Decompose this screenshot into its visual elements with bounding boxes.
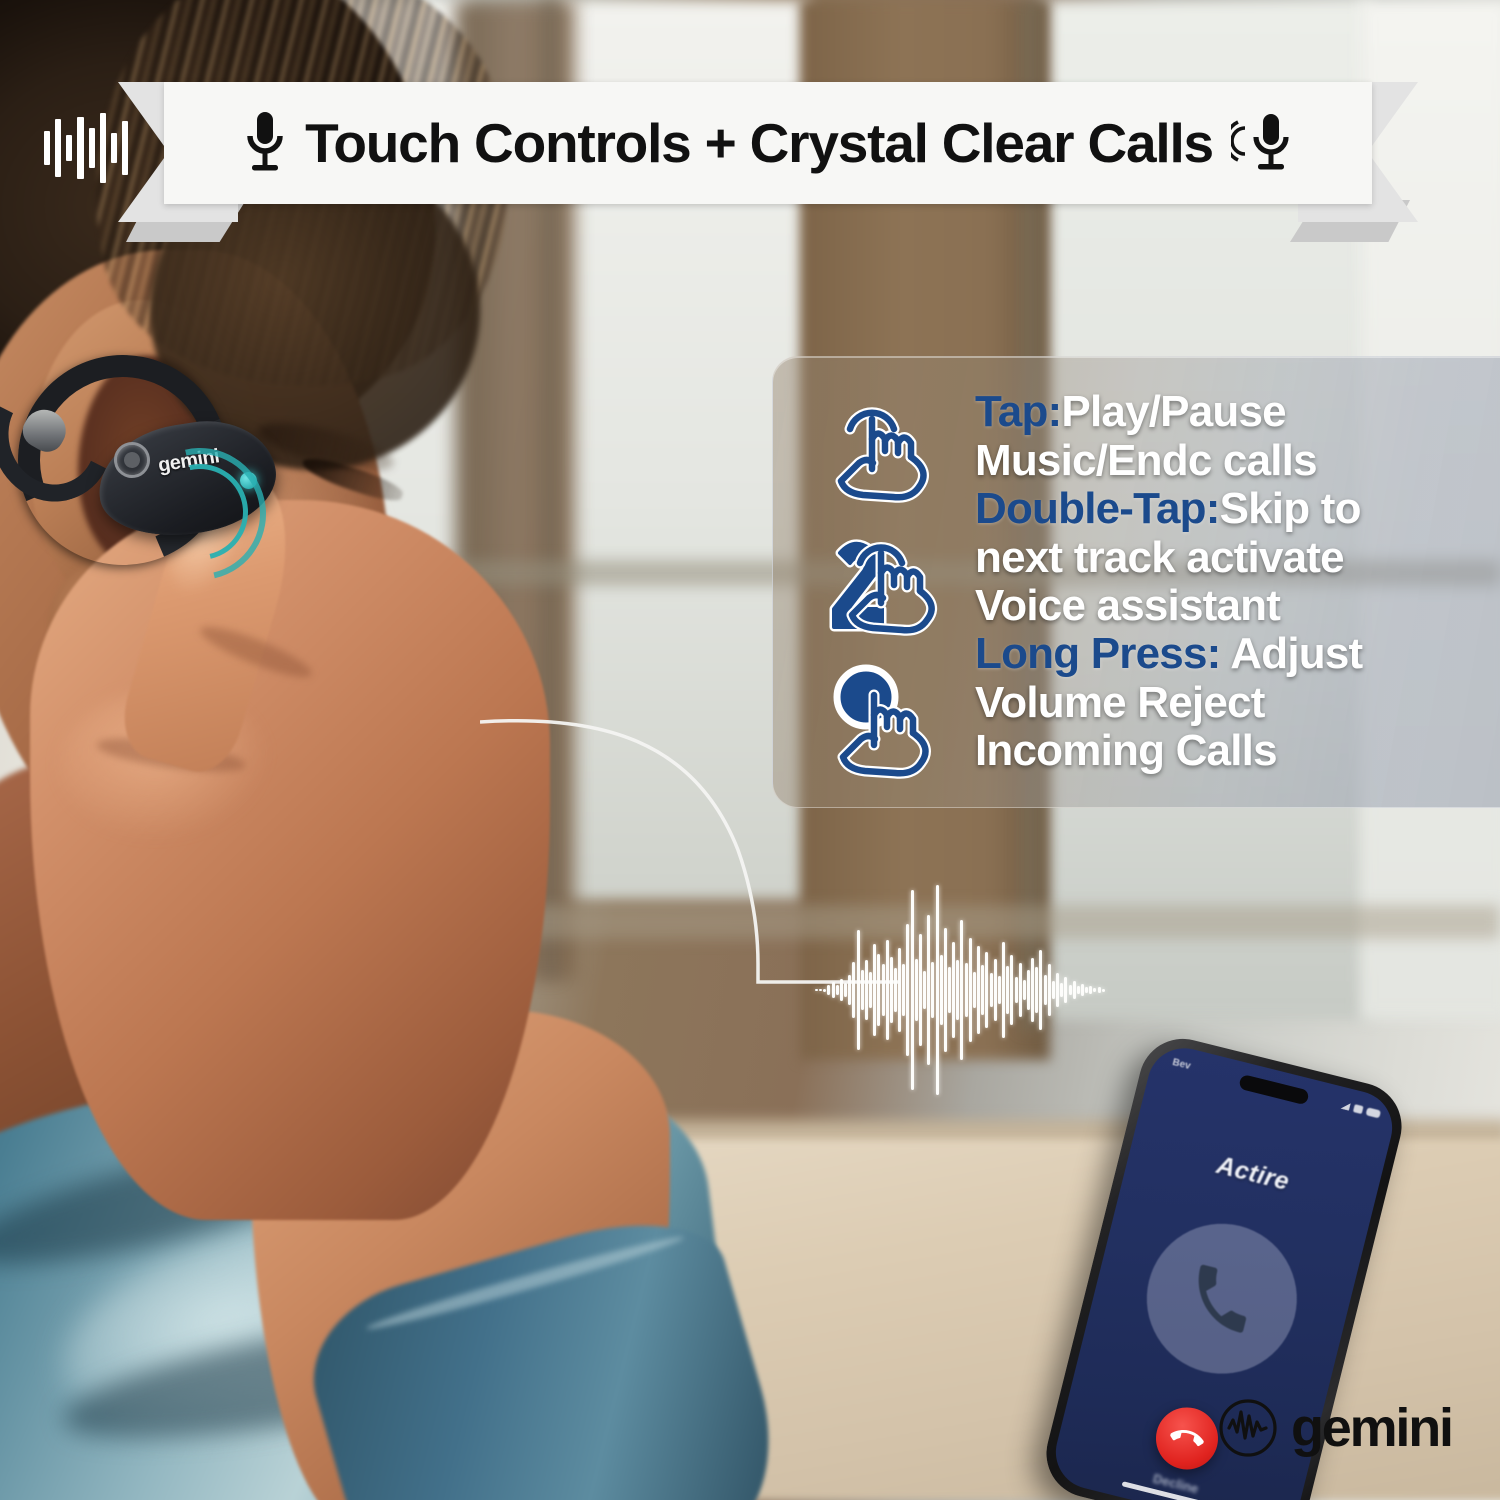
waveform-bar (1006, 966, 1009, 1014)
gesture-icon-column (807, 375, 967, 789)
waveform-bar (832, 982, 835, 998)
equalizer-bar (66, 135, 72, 161)
gesture-description: Incoming Calls (975, 726, 1277, 775)
waveform-bar (890, 957, 893, 1023)
waveform-bar (977, 946, 980, 1034)
waveform-bar (869, 972, 872, 1008)
waveform-bar (923, 971, 926, 1009)
ribbon-banner: Touch Controls + Crystal Clear Calls (164, 82, 1372, 204)
waveform-bar (973, 972, 976, 1008)
equalizer-bar (55, 119, 61, 177)
waveform-bar (1010, 955, 1013, 1025)
page-title: Touch Controls + Crystal Clear Calls (305, 111, 1213, 175)
waveform-bar (956, 960, 959, 1020)
gesture-description: Volume Reject (975, 678, 1265, 727)
waveform-bar (981, 965, 984, 1015)
waveform-bar (1064, 977, 1067, 1003)
waveform-bar (1044, 975, 1047, 1005)
waveform-bar (902, 964, 905, 1016)
waveform-bar (915, 959, 918, 1021)
waveform-bar (898, 948, 901, 1032)
waveform-bar (1102, 989, 1105, 992)
waveform-bar (848, 975, 851, 1005)
waveform-bar (1048, 964, 1051, 1016)
waveform-bar (873, 944, 876, 1036)
battery-icon (1366, 1107, 1382, 1118)
waveform-bar (836, 985, 839, 995)
waveform-bar (940, 955, 943, 1025)
waveform-bar (840, 979, 843, 1001)
waveform-bar (906, 924, 909, 1056)
brand-name: gemini (1291, 1401, 1452, 1455)
gesture-keyword: Tap: (975, 387, 1061, 436)
gesture-description: Voice assistant (975, 581, 1280, 630)
gesture-line: Music/Endc calls (975, 437, 1500, 485)
headline-ribbon: Touch Controls + Crystal Clear Calls (118, 82, 1418, 222)
equalizer-bar (111, 133, 117, 163)
phone-notch (1238, 1074, 1310, 1105)
equalizer-icon (44, 108, 128, 188)
waveform-bar (1052, 981, 1055, 999)
touch-controls-panel: Tap:Play/PauseMusic/Endc callsDouble-Tap… (772, 356, 1500, 808)
gesture-keyword: Double-Tap: (975, 484, 1220, 533)
microphone-waves-icon (1231, 108, 1293, 178)
waveform-bar (877, 954, 880, 1026)
avatar (1131, 1208, 1313, 1390)
call-status-label: Actire (1128, 1130, 1378, 1219)
microphone-icon (243, 108, 287, 178)
audio-waveform-icon (815, 880, 1105, 1100)
waveform-bar (990, 973, 993, 1007)
gesture-line: Voice assistant (975, 582, 1500, 630)
waveform-bar (948, 967, 951, 1013)
waveform-bar (1039, 950, 1042, 1030)
waveform-bar (1002, 942, 1005, 1038)
status-bar-right (1340, 1101, 1381, 1118)
double-tap-hand-icon (826, 523, 948, 641)
single-tap-hand-icon (826, 385, 948, 503)
gesture-description: Adjust (1220, 629, 1362, 678)
waveform-bar (894, 968, 897, 1012)
waveform-bar (1015, 977, 1018, 1003)
waveform-bar (919, 934, 922, 1046)
hand (30, 500, 550, 1220)
waveform-bar (1093, 988, 1096, 992)
brand-logo: gemini (1218, 1398, 1452, 1458)
waveform-bar (1089, 986, 1092, 994)
waveform-bar (911, 890, 914, 1090)
waveform-bar (969, 938, 972, 1042)
wifi-icon (1353, 1104, 1364, 1114)
waveform-bar (886, 940, 889, 1040)
waveform-bar (1035, 967, 1038, 1013)
waveform-bar (861, 970, 864, 1010)
waveform-bar (998, 976, 1001, 1004)
waveform-bar (1069, 985, 1072, 995)
waveform-bar (1098, 987, 1101, 993)
status-bar-left: Bev (1171, 1057, 1191, 1072)
gesture-description: Skip to (1220, 484, 1361, 533)
waveform-bar (1081, 984, 1084, 996)
signal-icon (1340, 1101, 1351, 1111)
gesture-description: Music/Endc calls (975, 436, 1317, 485)
waveform-bar (985, 952, 988, 1028)
waveform-bar (823, 989, 826, 992)
waveform-bar (931, 962, 934, 1018)
waveform-bar (994, 959, 997, 1021)
waveform-bar (927, 915, 930, 1065)
equalizer-bar (100, 113, 106, 183)
waveform-bar (965, 963, 968, 1017)
waveform-bar (960, 920, 963, 1060)
waveform-bar (1085, 987, 1088, 993)
waveform-bar (852, 962, 855, 1018)
waveform-bar (936, 885, 939, 1095)
waveform-bar (1060, 983, 1063, 997)
gesture-description-list: Tap:Play/PauseMusic/Endc callsDouble-Tap… (967, 375, 1500, 789)
waveform-bar (1027, 970, 1030, 1010)
gesture-line: Long Press: Adjust (975, 630, 1500, 678)
waveform-bar (827, 985, 830, 995)
waveform-bar (952, 942, 955, 1038)
equalizer-bar (77, 117, 83, 179)
gesture-line: Volume Reject (975, 679, 1500, 727)
equalizer-bar (44, 131, 50, 165)
waveform-bar (1019, 963, 1022, 1017)
waveform-bar (1031, 958, 1034, 1022)
waveform-bar (819, 989, 822, 991)
waveform-bar (1073, 981, 1076, 999)
gesture-line: Double-Tap:Skip to (975, 485, 1500, 533)
end-call-icon (1166, 1418, 1207, 1459)
gesture-line: Incoming Calls (975, 727, 1500, 775)
gemini-waveform-logo-icon (1218, 1398, 1278, 1458)
waveform-bar (865, 960, 868, 1020)
gesture-keyword: Long Press: (975, 629, 1220, 678)
waveform-bar (815, 989, 818, 991)
gesture-description: next track activate (975, 533, 1344, 582)
equalizer-bar (89, 128, 95, 168)
long-press-hand-icon (826, 661, 948, 779)
waveform-bar (844, 983, 847, 997)
waveform-bar (882, 964, 885, 1016)
gesture-description: Play/Pause (1061, 387, 1285, 436)
waveform-bar (1023, 980, 1026, 1000)
waveform-bar (1056, 973, 1059, 1007)
phone-handset-icon (1176, 1253, 1268, 1345)
infographic-canvas: gemini Touch Controls + Crystal Clear Ca… (0, 0, 1500, 1500)
waveform-bar (944, 928, 947, 1052)
waveform-bar (857, 930, 860, 1050)
gesture-line: next track activate (975, 534, 1500, 582)
end-call-button[interactable] (1149, 1401, 1224, 1476)
waveform-bar (1077, 986, 1080, 994)
gesture-line: Tap:Play/Pause (975, 388, 1500, 436)
